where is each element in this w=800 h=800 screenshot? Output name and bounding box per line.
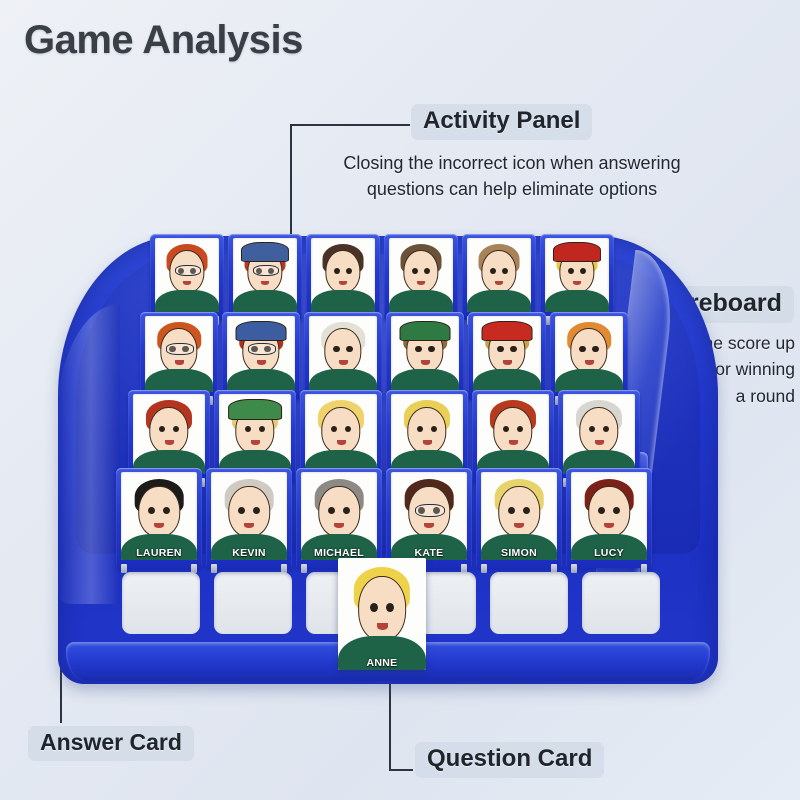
character-portrait: ANNE	[338, 558, 426, 670]
character-card-grid: LAURENKEVINMICHAELKATESIMONLUCY	[58, 228, 718, 568]
character-portrait	[311, 238, 375, 312]
head-shape	[325, 250, 360, 293]
eye-r	[346, 268, 352, 274]
mouth-shape	[421, 360, 430, 365]
glasses-icon	[166, 343, 194, 355]
character-card[interactable]	[468, 312, 546, 400]
character-portrait	[145, 316, 213, 392]
mouth-shape	[175, 360, 184, 365]
character-card[interactable]	[384, 234, 458, 320]
glasses-icon	[253, 265, 279, 277]
hat-shape	[241, 242, 289, 262]
character-portrait: KEVIN	[211, 472, 287, 560]
character-card[interactable]: SIMON	[476, 468, 562, 568]
character-portrait	[477, 394, 549, 474]
callout-activity-panel-label: Activity Panel	[411, 104, 592, 140]
character-portrait	[545, 238, 609, 312]
glasses-icon	[248, 343, 276, 355]
callout-question-card-label: Question Card	[415, 742, 604, 778]
eye-l	[412, 268, 418, 274]
head-shape	[588, 486, 630, 537]
eye-l	[334, 268, 340, 274]
glasses-icon	[415, 504, 446, 517]
head-shape	[570, 328, 607, 373]
shirt-shape	[545, 290, 609, 312]
answer-card-slot[interactable]	[490, 572, 568, 634]
character-portrait: KATE	[391, 472, 467, 560]
character-card[interactable]: KATE	[386, 468, 472, 568]
character-name-label: LUCY	[571, 547, 647, 559]
character-portrait	[467, 238, 531, 312]
card-frame[interactable]	[384, 234, 458, 320]
card-frame[interactable]	[306, 234, 380, 320]
question-connector-horizontal	[389, 769, 413, 771]
character-card[interactable]	[386, 312, 464, 400]
hat-shape	[400, 321, 451, 341]
character-portrait	[473, 316, 541, 392]
answer-card-slot[interactable]	[582, 572, 660, 634]
mouth-shape	[585, 360, 594, 365]
answer-card-slot[interactable]	[122, 572, 200, 634]
character-card[interactable]	[140, 312, 218, 400]
hat-shape	[236, 321, 287, 341]
mouth-shape	[257, 360, 266, 365]
head-shape	[138, 486, 180, 537]
card-frame[interactable]: LAUREN	[116, 468, 202, 568]
head-shape	[149, 407, 188, 454]
character-name-label: KEVIN	[211, 547, 287, 559]
head-shape	[579, 407, 618, 454]
character-portrait	[219, 394, 291, 474]
character-card[interactable]	[550, 312, 628, 400]
character-portrait	[555, 316, 623, 392]
character-card[interactable]	[462, 234, 536, 320]
eye-r	[424, 268, 430, 274]
character-card[interactable]	[150, 234, 224, 320]
character-portrait	[309, 316, 377, 392]
character-portrait	[391, 394, 463, 474]
character-portrait: LUCY	[571, 472, 647, 560]
card-frame[interactable]: KEVIN	[206, 468, 292, 568]
eye-r	[163, 507, 170, 514]
shirt-shape	[473, 369, 541, 392]
card-row-1	[150, 234, 618, 320]
shirt-shape	[555, 369, 623, 392]
character-portrait	[155, 238, 219, 312]
callout-answer-card-label: Answer Card	[28, 726, 194, 761]
head-shape	[403, 250, 438, 293]
character-name-label: SIMON	[481, 547, 557, 559]
card-frame[interactable]	[462, 234, 536, 320]
eye-l	[490, 268, 496, 274]
character-portrait	[391, 316, 459, 392]
card-frame[interactable]	[550, 312, 628, 400]
card-frame[interactable]	[222, 312, 300, 400]
eye-r	[343, 507, 350, 514]
shirt-shape	[155, 290, 219, 312]
character-portrait	[389, 238, 453, 312]
character-card[interactable]	[304, 312, 382, 400]
character-portrait	[133, 394, 205, 474]
shirt-shape	[233, 290, 297, 312]
head-shape	[321, 407, 360, 454]
card-frame[interactable]	[468, 312, 546, 400]
head-shape	[481, 250, 516, 293]
card-frame[interactable]: KATE	[386, 468, 472, 568]
character-card[interactable]: LUCY	[566, 468, 652, 568]
character-portrait	[233, 238, 297, 312]
card-frame[interactable]: LUCY	[566, 468, 652, 568]
shirt-shape	[311, 290, 375, 312]
eye-r	[253, 507, 260, 514]
eye-r	[502, 268, 508, 274]
shirt-shape	[309, 369, 377, 392]
card-row-2	[140, 312, 632, 400]
head-shape	[498, 486, 540, 537]
head-shape	[407, 407, 446, 454]
head-shape	[493, 407, 532, 454]
card-row-4: LAURENKEVINMICHAELKATESIMONLUCY	[116, 468, 656, 568]
shirt-shape	[145, 369, 213, 392]
mouth-shape	[503, 360, 512, 365]
character-card[interactable]	[306, 234, 380, 320]
answer-card-slot[interactable]	[214, 572, 292, 634]
character-portrait: LAUREN	[121, 472, 197, 560]
glasses-icon	[175, 265, 201, 277]
hat-shape	[482, 321, 533, 341]
card-frame[interactable]	[386, 312, 464, 400]
card-frame[interactable]	[150, 234, 224, 320]
character-portrait: SIMON	[481, 472, 557, 560]
shirt-shape	[227, 369, 295, 392]
card-frame[interactable]	[540, 234, 614, 320]
character-portrait: MICHAEL	[301, 472, 377, 560]
character-card[interactable]	[222, 312, 300, 400]
head-shape	[358, 576, 406, 641]
shirt-shape	[389, 290, 453, 312]
character-card[interactable]	[228, 234, 302, 320]
character-card[interactable]: KEVIN	[206, 468, 292, 568]
character-card[interactable]	[540, 234, 614, 320]
character-name-label: ANNE	[338, 657, 426, 669]
question-card[interactable]: ANNE	[338, 558, 426, 670]
character-portrait	[305, 394, 377, 474]
activity-connector-horizontal	[290, 124, 410, 126]
eye-r	[523, 507, 530, 514]
card-frame[interactable]	[140, 312, 218, 400]
eye-l	[370, 603, 378, 612]
eye-l	[568, 268, 574, 274]
hat-shape	[228, 399, 282, 420]
character-name-label: LAUREN	[121, 547, 197, 559]
mouth-shape	[339, 360, 348, 365]
head-shape	[228, 486, 270, 537]
card-frame[interactable]: SIMON	[476, 468, 562, 568]
card-frame[interactable]	[228, 234, 302, 320]
card-frame[interactable]	[304, 312, 382, 400]
page-title: Game Analysis	[24, 18, 303, 63]
head-shape	[318, 486, 360, 537]
hat-shape	[553, 242, 601, 262]
character-card[interactable]: LAUREN	[116, 468, 202, 568]
character-portrait	[227, 316, 295, 392]
head-shape	[324, 328, 361, 373]
callout-activity-panel-description: Closing the incorrect icon when answerin…	[318, 150, 706, 202]
shirt-shape	[467, 290, 531, 312]
analysis-stage: Game Analysis Activity Panel Closing the…	[0, 0, 800, 800]
character-card[interactable]: MICHAEL	[296, 468, 382, 568]
eye-r	[580, 268, 586, 274]
mouth-shape	[377, 623, 388, 630]
shirt-shape	[391, 369, 459, 392]
character-portrait	[563, 394, 635, 474]
eye-r	[613, 507, 620, 514]
card-frame[interactable]: MICHAEL	[296, 468, 382, 568]
